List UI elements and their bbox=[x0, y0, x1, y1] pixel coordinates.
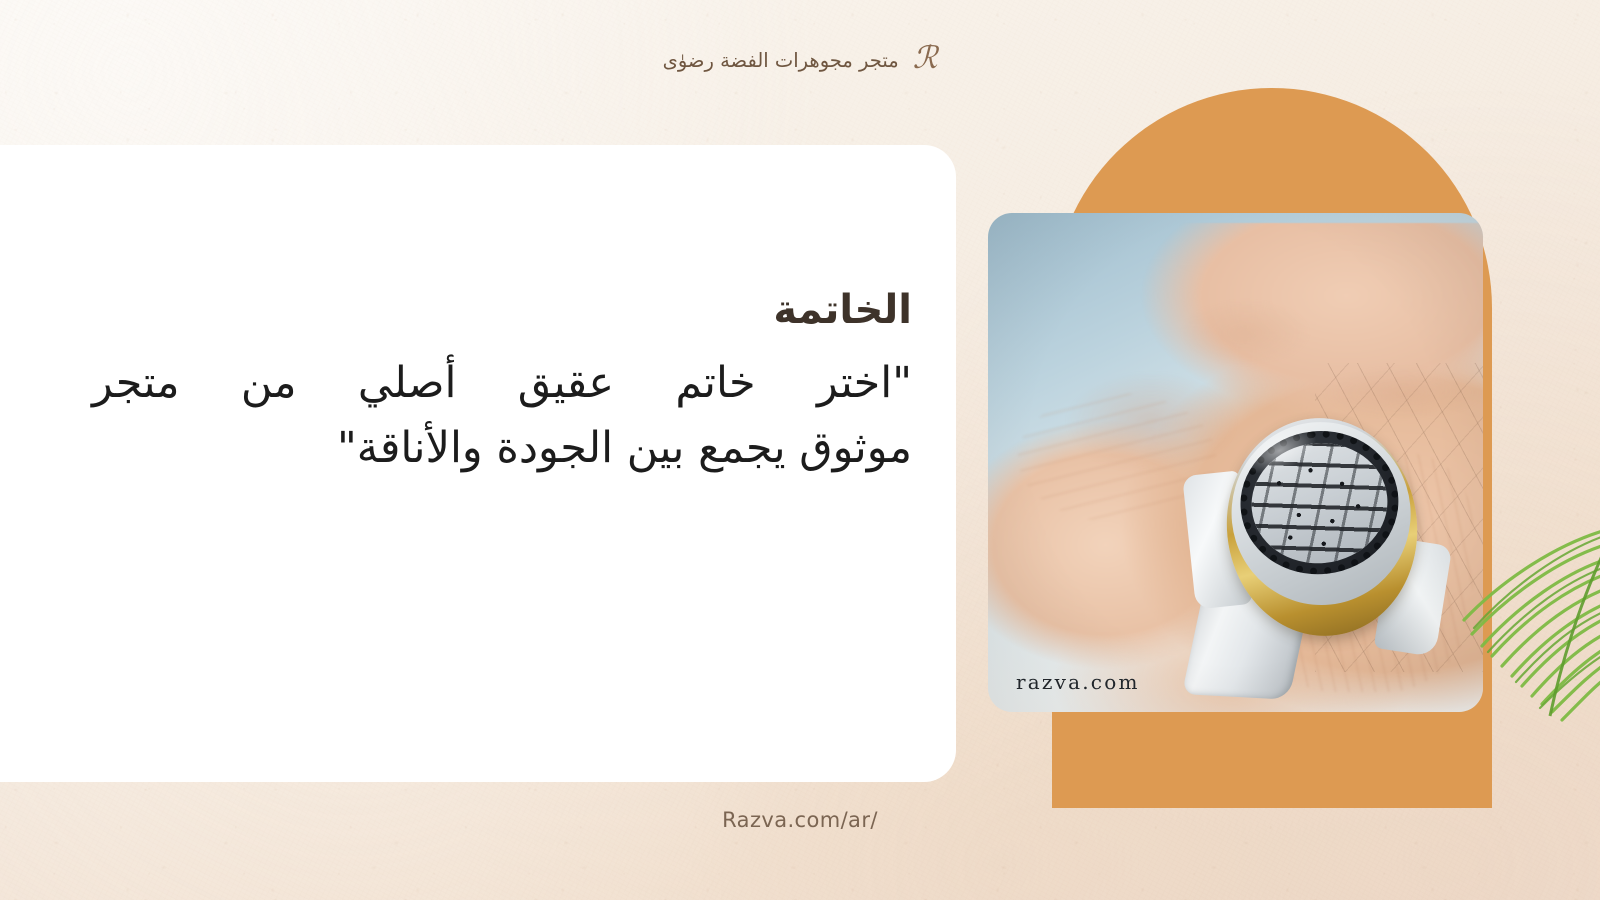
content-card-body: الخاتمة "اختر خاتم عقيق أصلي من متجر موث… bbox=[92, 287, 912, 482]
photo-scene bbox=[988, 213, 1483, 712]
body-word: أصلي bbox=[358, 351, 457, 416]
body-word: متجر bbox=[92, 351, 180, 416]
script-r-logo-icon: ℛ bbox=[913, 43, 938, 74]
brand-header: ℛ متجر مجوهرات الفضة رضوٰى bbox=[0, 45, 1600, 76]
body-word: خاتم bbox=[675, 351, 755, 416]
body-word: "اختر bbox=[817, 351, 912, 416]
silver-ring bbox=[1186, 418, 1443, 697]
product-photo: razva.com bbox=[988, 213, 1483, 712]
brand-name-label: متجر مجوهرات الفضة رضوٰى bbox=[663, 49, 899, 72]
body-text-line-1: "اختر خاتم عقيق أصلي من متجر bbox=[92, 351, 912, 416]
section-heading: الخاتمة bbox=[92, 287, 912, 333]
footer-url[interactable]: Razva.com/ar/ bbox=[0, 808, 1600, 832]
body-word: من bbox=[241, 351, 297, 416]
content-card: الخاتمة "اختر خاتم عقيق أصلي من متجر موث… bbox=[0, 145, 956, 782]
body-word: عقيق bbox=[518, 351, 614, 416]
slide-canvas: ℛ متجر مجوهرات الفضة رضوٰى الخاتمة "اختر… bbox=[0, 0, 1600, 900]
photo-watermark: razva.com bbox=[1016, 670, 1140, 694]
body-text-line-2: موثوق يجمع بين الجودة والأناقة" bbox=[92, 416, 912, 481]
